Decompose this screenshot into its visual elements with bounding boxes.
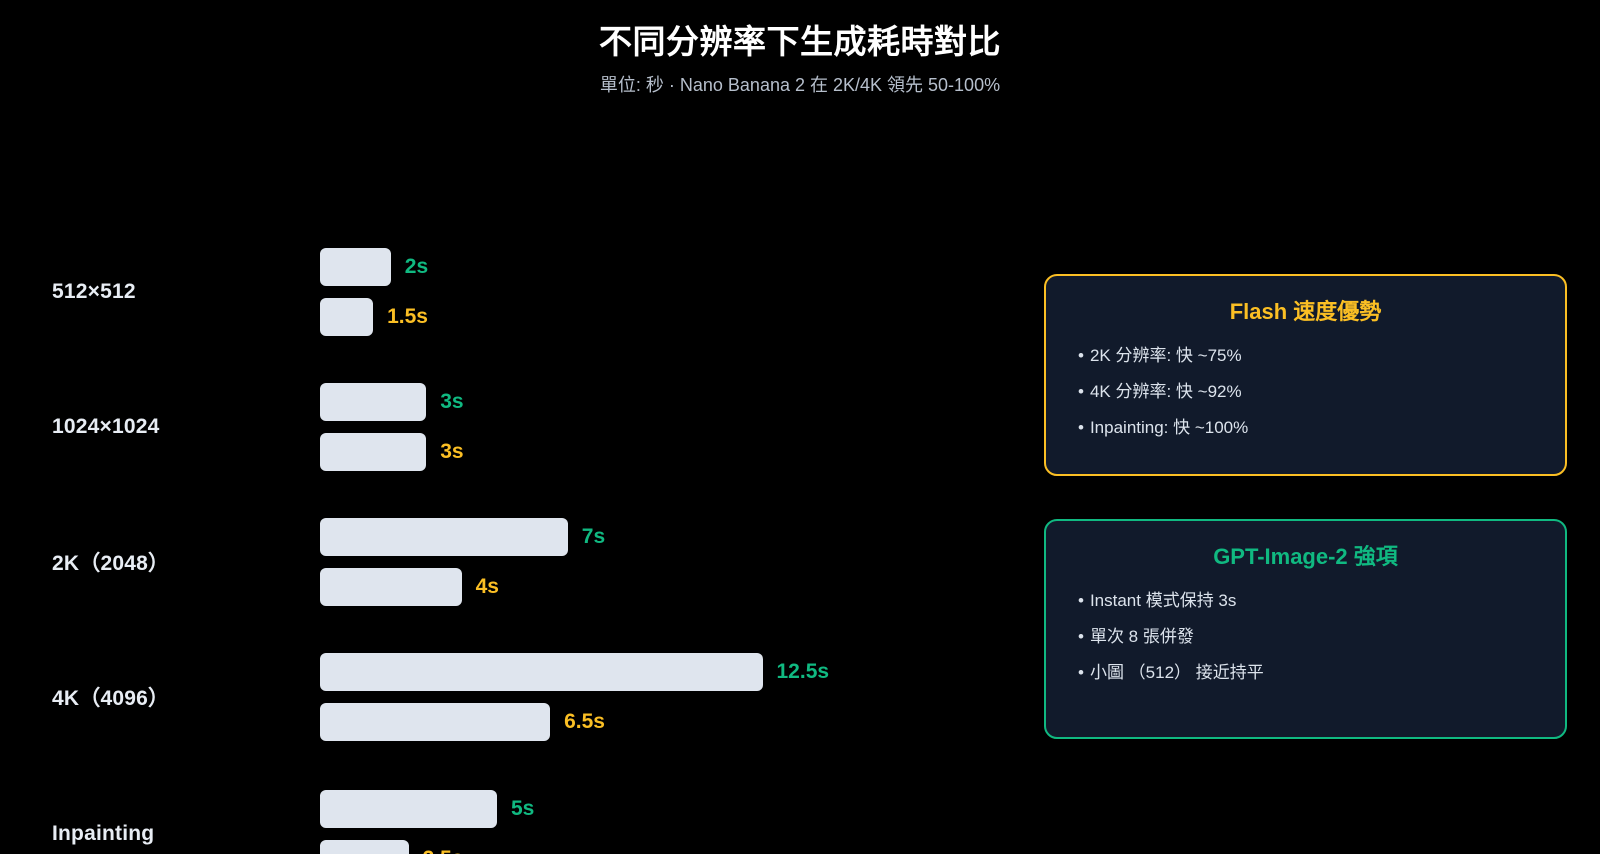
category-label: 4K（4096） [52,682,169,712]
list-item-label: 小圖 （512） 接近持平 [1090,663,1264,682]
bar-secondary [320,433,426,471]
chart-body: 512×512 2s 1.5s 1024×1024 3s [0,98,1600,810]
category-label: 512×512 [52,280,136,304]
bar-value-primary: 2s [405,256,428,277]
bar-primary [320,790,497,828]
bullet-icon: • [1078,381,1084,403]
bar-row: 12.5s [320,653,829,691]
list-item-label: Instant 模式保持 3s [1090,591,1236,610]
bullet-icon: • [1078,417,1084,439]
list-item: •2K 分辨率: 快 ~75% [1076,345,1535,367]
bar-primary [320,383,426,421]
category-label: Inpainting [52,822,154,846]
bar-value-primary: 7s [582,526,605,547]
panel-flash-advantage: Flash 速度優勢 •2K 分辨率: 快 ~75% •4K 分辨率: 快 ~9… [1044,274,1567,476]
list-item: •小圖 （512） 接近持平 [1076,662,1535,684]
bar-value-secondary: 1.5s [387,306,428,327]
bar-row: 2s [320,248,428,286]
bullet-icon: • [1078,345,1084,367]
bar-chart: 512×512 2s 1.5s 1024×1024 3s [0,120,1020,810]
bar-secondary [320,298,373,336]
bar-row: 3s [320,433,464,471]
bullet-icon: • [1078,590,1084,612]
bar-secondary [320,703,550,741]
bar-pair: 3s 3s [320,383,1010,471]
bar-pair: 5s 2.5s [320,790,1010,854]
bar-primary [320,248,391,286]
bar-row: 2.5s [320,840,463,854]
bar-row: 1.5s [320,298,428,336]
list-item: •Instant 模式保持 3s [1076,590,1535,612]
list-item: •Inpainting: 快 ~100% [1076,417,1535,439]
bullet-icon: • [1078,626,1084,648]
bar-group-4k: 4K（4096） 12.5s 6.5s [0,653,1020,741]
bar-value-secondary: 3s [440,441,463,462]
chart-subtitle: 單位: 秒 · Nano Banana 2 在 2K/4K 領先 50-100% [0,74,1600,97]
list-item-label: 2K 分辨率: 快 ~75% [1090,346,1242,365]
bar-row: 6.5s [320,703,605,741]
bar-group-1024: 1024×1024 3s 3s [0,383,1020,471]
bar-row: 5s [320,790,534,828]
panel-title: Flash 速度優勢 [1076,298,1535,326]
chart-header: 不同分辨率下生成耗時對比 單位: 秒 · Nano Banana 2 在 2K/… [0,0,1600,98]
bar-pair: 2s 1.5s [320,248,1010,336]
category-label: 2K（2048） [52,547,169,577]
bar-secondary [320,840,409,854]
bar-row: 7s [320,518,605,556]
bar-pair: 12.5s 6.5s [320,653,1010,741]
category-label: 1024×1024 [52,415,160,439]
list-item: •單次 8 張併發 [1076,626,1535,648]
bar-row: 4s [320,568,499,606]
bar-group-512: 512×512 2s 1.5s [0,248,1020,336]
bar-primary [320,653,763,691]
bar-value-primary: 5s [511,798,534,819]
bar-group-inpainting: Inpainting 5s 2.5s [0,790,1020,854]
panel-bullet-list: •2K 分辨率: 快 ~75% •4K 分辨率: 快 ~92% •Inpaint… [1076,345,1535,439]
bar-value-primary: 12.5s [777,661,830,682]
bar-secondary [320,568,462,606]
bar-value-secondary: 2.5s [423,848,464,854]
bar-primary [320,518,568,556]
list-item-label: 單次 8 張併發 [1090,627,1194,646]
bar-value-secondary: 4s [476,576,499,597]
list-item-label: Inpainting: 快 ~100% [1090,418,1248,437]
panel-bullet-list: •Instant 模式保持 3s •單次 8 張併發 •小圖 （512） 接近持… [1076,590,1535,684]
bar-group-2k: 2K（2048） 7s 4s [0,518,1020,606]
panel-gpt-strengths: GPT-Image-2 強項 •Instant 模式保持 3s •單次 8 張併… [1044,519,1567,739]
bar-pair: 7s 4s [320,518,1010,606]
bar-row: 3s [320,383,464,421]
page-title: 不同分辨率下生成耗時對比 [0,22,1600,62]
list-item: •4K 分辨率: 快 ~92% [1076,381,1535,403]
panel-title: GPT-Image-2 強項 [1076,543,1535,571]
bar-value-secondary: 6.5s [564,711,605,732]
list-item-label: 4K 分辨率: 快 ~92% [1090,382,1242,401]
bullet-icon: • [1078,662,1084,684]
bar-value-primary: 3s [440,391,463,412]
